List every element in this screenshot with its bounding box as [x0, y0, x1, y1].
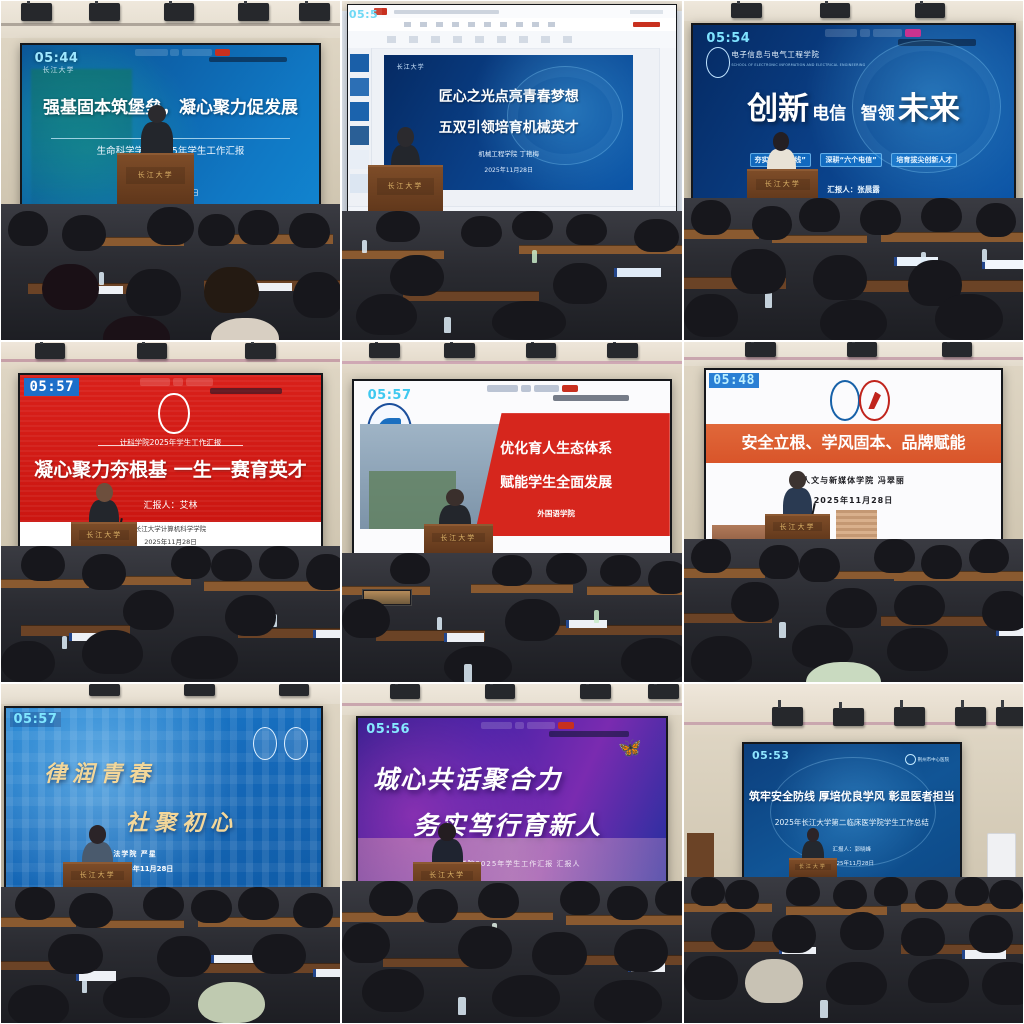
podium: 长江大学 — [789, 858, 837, 879]
college-emblem-icon — [284, 727, 308, 761]
slide-title-line1: 优化育人生态体系 — [449, 441, 664, 459]
toolbar-pill[interactable] — [140, 378, 170, 385]
ppt-ribbon[interactable] — [348, 31, 676, 49]
ceiling-lamp — [894, 707, 925, 727]
podium: 长江大学 — [117, 153, 194, 211]
ppt-doc-name — [394, 10, 499, 14]
slide-presenter: 机械工程学院 丁艳梅 — [384, 150, 633, 160]
slide-title-accent-2: 未来 — [898, 83, 960, 128]
dove-icon: 🦋 — [618, 739, 642, 758]
slide-canvas: 05:53 荆州市中心医院 筑牢安全防线 厚培优良学风 彰显医者担当 2025年… — [744, 744, 960, 879]
slide-canvas: 05:57 计科学院2025年学生工作汇报 凝心聚力夯根基 一生一赛育英才 汇报… — [20, 375, 321, 555]
ceiling-rail — [1, 23, 340, 26]
panel-7-law-school: 05:57 律润青春 社聚初心 法学院 严星 2025年11月28日 长江大学 — [0, 683, 341, 1024]
audience-area — [342, 553, 682, 682]
ceiling-lamp — [820, 3, 851, 17]
toolbar-status-pill — [209, 57, 286, 62]
projection-screen: 05:48 安全立根、学风固本、品牌赋能 人文与新媒体学院 冯翠丽 2025年1… — [704, 368, 1002, 548]
audience-area — [342, 881, 682, 1023]
toolbar-status-pill — [210, 388, 282, 394]
slide-canvas: 05:54 电子信息与电气工程学院 SCHOOL OF ELECTRONIC I… — [693, 25, 1014, 207]
toolbar-pill[interactable] — [186, 378, 213, 385]
toolbar-pill[interactable] — [825, 29, 857, 37]
audience-area — [1, 204, 340, 340]
slide-canvas: 05:57 律润青春 社聚初心 法学院 严星 2025年11月28日 — [6, 708, 321, 894]
audience-area — [684, 539, 1023, 682]
college-header: 电子信息与电气工程学院 — [731, 49, 819, 60]
toolbar-pill[interactable] — [173, 378, 182, 385]
ceiling — [1, 342, 340, 373]
ceiling — [684, 684, 1023, 738]
ceiling-lamp — [915, 3, 946, 17]
countdown-timer: 05:48 — [709, 373, 759, 388]
toolbar-status-pill — [553, 395, 629, 401]
ppt-right-rail[interactable] — [659, 48, 676, 220]
toolbar-pill[interactable] — [527, 722, 555, 729]
slide-canvas: 05:48 安全立根、学风固本、品牌赋能 人文与新媒体学院 冯翠丽 2025年1… — [706, 370, 1000, 546]
hospital-logo: 荆州市中心医院 — [905, 754, 950, 765]
toolbar-record-pill[interactable] — [215, 49, 230, 56]
ceiling-lamp — [996, 707, 1024, 727]
ceiling-lamp — [184, 684, 215, 696]
audience-area — [684, 198, 1023, 340]
ceiling-lamp — [485, 684, 516, 699]
ceiling-lamp — [279, 684, 310, 696]
ceiling-lamp — [35, 343, 66, 358]
slide-canvas: 05:57 优化育人生态体系 赋能学生全面发展 外国语学院 — [354, 381, 670, 557]
slide-title-line2: 五双引领培育机械英才 — [384, 120, 633, 138]
slide-title-mid-2: 智领 — [861, 99, 895, 124]
ceiling-lamp — [89, 3, 120, 20]
ceiling-lamp — [833, 708, 864, 726]
toolbar-pill[interactable] — [481, 722, 512, 729]
projection-screen: 05:56 🦋 城心共话聚合力 务实笃行育新人 城建学院2025年学生工作汇报 … — [356, 716, 669, 896]
countdown-timer: 05:53 — [748, 749, 794, 762]
projection-screen: 05:53 荆州市中心医院 筑牢安全防线 厚培优良学风 彰显医者担当 2025年… — [742, 742, 962, 881]
university-logo-text: 长江大学 — [42, 65, 74, 75]
toolbar-status-pill — [898, 39, 975, 46]
ceiling-lamp — [238, 3, 269, 20]
college-emblem-icon — [158, 393, 189, 435]
ceiling-lamp — [847, 342, 878, 357]
toolbar-pill[interactable] — [521, 385, 530, 392]
highlight-pill-3: 培育拔尖创新人才 — [891, 153, 957, 167]
slide-date: 2025年11月28日 — [744, 860, 960, 868]
toolbar-record-pill[interactable] — [562, 385, 578, 392]
university-logo-text: 长江大学 — [397, 62, 425, 71]
toolbar-status-pill — [549, 731, 629, 737]
panel-4-computer-science: 05:57 计科学院2025年学生工作汇报 凝心聚力夯根基 一生一赛育英才 汇报… — [0, 341, 341, 683]
panel-2-mechanical-engineering: 长江大学 匠心之光点亮青春梦想 五双引领培育机械英才 机械工程学院 丁艳梅 20… — [341, 0, 683, 341]
projection-screen: 05:54 电子信息与电气工程学院 SCHOOL OF ELECTRONIC I… — [691, 23, 1016, 209]
toolbar-pill[interactable] — [860, 29, 870, 37]
projection-screen: 05:57 优化育人生态体系 赋能学生全面发展 外国语学院 长江大学 — [352, 379, 672, 559]
slide-presenter: 汇报人：张晨露 — [693, 184, 1014, 195]
toolbar-pill[interactable] — [487, 385, 519, 392]
university-seal-icon — [830, 380, 860, 421]
ceiling-lamp — [21, 3, 52, 20]
countdown-timer: 05:5 — [347, 8, 382, 21]
countdown-timer: 05:44 — [31, 51, 83, 66]
panel-8-urban-construction: 05:56 🦋 城心共话聚合力 务实笃行育新人 城建学院2025年学生工作汇报 … — [341, 683, 683, 1024]
slide-title-mid-1: 电信 — [812, 99, 846, 124]
university-seal-icon — [706, 47, 731, 78]
slide-footer: 城建学院2025年学生工作汇报 汇报人 — [358, 859, 667, 869]
podium-plaque: 长江大学 — [795, 864, 831, 870]
hospital-name: 荆州市中心医院 — [918, 757, 950, 763]
toolbar-pill[interactable] — [135, 49, 168, 56]
ceiling-lamp — [607, 343, 638, 358]
audience-area — [1, 887, 340, 1023]
ceiling-lamp — [580, 684, 611, 699]
ppt-window-controls[interactable] — [630, 10, 663, 14]
projection-screen: 05:57 律润青春 社聚初心 法学院 严星 2025年11月28日 长江大学 — [4, 706, 323, 896]
college-header-english: SCHOOL OF ELECTRONIC INFORMATION AND ELE… — [731, 63, 865, 67]
countdown-timer: 05:57 — [24, 378, 79, 396]
countdown-timer: 05:57 — [10, 712, 62, 727]
podium-plaque: 长江大学 — [126, 167, 185, 184]
panel-5-foreign-languages: 05:57 优化育人生态体系 赋能学生全面发展 外国语学院 长江大学 — [341, 341, 683, 683]
ceiling-lamp — [369, 343, 400, 358]
countdown-timer: 05:54 — [702, 31, 754, 46]
toolbar-pill[interactable] — [534, 385, 559, 392]
ceiling-lamp — [89, 684, 120, 696]
podium-plaque: 长江大学 — [421, 871, 473, 880]
slide-presenter: 汇报人：郭晓峰 — [744, 846, 960, 854]
slide-presenter: 汇报人：艾林 — [20, 500, 321, 514]
slide-title: 凝心聚力夯根基 一生一赛育英才 — [20, 459, 321, 483]
slide-org: 长江大学计算机科学学院 — [20, 525, 321, 535]
projection-screen: 长江大学 匠心之光点亮青春梦想 五双引领培育机械英才 机械工程学院 丁艳梅 20… — [347, 4, 677, 221]
ppt-titlebar — [348, 5, 676, 19]
ceiling-lamp — [444, 343, 475, 358]
slide-subtitle: 2025年长江大学第二临床医学院学生工作总结 — [744, 817, 960, 828]
slide-title-line2: 赋能学生全面发展 — [449, 475, 664, 493]
projection-screen: 05:44 长江大学 强基固本筑堡垒，凝心聚力促发展 生命科学学院2025年学生… — [20, 43, 322, 213]
ceiling-lamp — [731, 3, 762, 17]
slide-title-line1: 律润青春 — [44, 756, 156, 788]
slide-org: 外国语学院 — [449, 508, 664, 519]
ceiling-lamp — [745, 342, 776, 357]
projection-screen: 05:57 计科学院2025年学生工作汇报 凝心聚力夯根基 一生一赛育英才 汇报… — [18, 373, 323, 557]
slide-title-line2: 社聚初心 — [126, 805, 238, 837]
podium-plaque: 长江大学 — [432, 533, 485, 543]
college-emblem-icon — [859, 380, 889, 421]
podium-plaque: 长江大学 — [377, 178, 434, 194]
ceiling — [342, 342, 682, 376]
ceiling-lamp — [137, 343, 168, 358]
slide-title: 安全立根、学风固本、品牌赋能 — [706, 433, 1000, 453]
slide-presenter: 法学院 严星 — [113, 849, 156, 859]
panel-9-second-clinical-medical: 05:53 荆州市中心医院 筑牢安全防线 厚培优良学风 彰显医者担当 2025年… — [683, 683, 1024, 1024]
slide-title-line1: 匠心之光点亮青春梦想 — [384, 89, 633, 107]
slide-date: 2025年11月28日 — [706, 495, 1000, 507]
slide-canvas: 05:56 🦋 城心共话聚合力 务实笃行育新人 城建学院2025年学生工作汇报 … — [358, 718, 667, 894]
photo-collage-grid: 05:44 长江大学 强基固本筑堡垒，凝心聚力促发展 生命科学学院2025年学生… — [0, 0, 1024, 1024]
audience-area — [342, 211, 682, 340]
countdown-timer: 05:56 — [362, 722, 414, 737]
ceiling-lamp — [955, 707, 986, 727]
slide-title-accent-1: 创新 — [747, 83, 809, 128]
toolbar-pill[interactable] — [182, 49, 212, 56]
panel-3-electronic-information: 05:54 电子信息与电气工程学院 SCHOOL OF ELECTRONIC I… — [683, 0, 1024, 341]
podium-plaque: 长江大学 — [71, 871, 124, 880]
ceiling-lamp — [526, 343, 557, 358]
toolbar-pill[interactable] — [515, 722, 524, 729]
university-seal-icon — [253, 727, 277, 761]
slide-title: 强基固本筑堡垒，凝心聚力促发展 — [22, 98, 320, 119]
ceiling-lamp — [245, 343, 276, 358]
audience-area — [684, 877, 1023, 1023]
toolbar-pill[interactable] — [873, 29, 902, 37]
podium-plaque: 长江大学 — [756, 179, 810, 190]
ceiling-lamp — [164, 3, 195, 20]
ceiling — [342, 684, 682, 718]
ppt-ribbon-tabs[interactable] — [348, 18, 676, 32]
ceiling-lamp — [942, 342, 973, 357]
ceiling-lamp — [648, 684, 679, 699]
ppt-present-button[interactable] — [633, 22, 659, 26]
ceiling-lamp — [390, 684, 421, 699]
slide-title-line1: 城心共话聚合力 — [373, 760, 562, 796]
countdown-timer: 05:57 — [364, 388, 416, 403]
slide-eyebrow: 计科学院2025年学生工作汇报 — [20, 437, 321, 448]
ceiling — [1, 1, 340, 42]
toolbar-record-pill[interactable] — [558, 722, 573, 729]
slide-presenter: 人文与新媒体学院 冯翠丽 — [706, 475, 1000, 487]
slide-title: 筑牢安全防线 厚培优良学风 彰显医者担当 — [744, 790, 960, 804]
panel-6-humanities-new-media: 05:48 安全立根、学风固本、品牌赋能 人文与新媒体学院 冯翠丽 2025年1… — [683, 341, 1024, 683]
ceiling-lamp — [299, 3, 330, 20]
toolbar-record-pill[interactable] — [905, 29, 921, 37]
side-cabinet — [687, 833, 714, 880]
highlight-pill-2: 深耕“六个电信” — [820, 153, 881, 167]
toolbar-pill[interactable] — [170, 49, 179, 56]
podium-plaque: 长江大学 — [773, 522, 822, 531]
podium-plaque: 长江大学 — [79, 530, 129, 539]
audience-area — [1, 546, 340, 682]
ceiling-lamp — [772, 707, 803, 727]
panel-1-life-science: 05:44 长江大学 强基固本筑堡垒，凝心聚力促发展 生命科学学院2025年学生… — [0, 0, 341, 341]
